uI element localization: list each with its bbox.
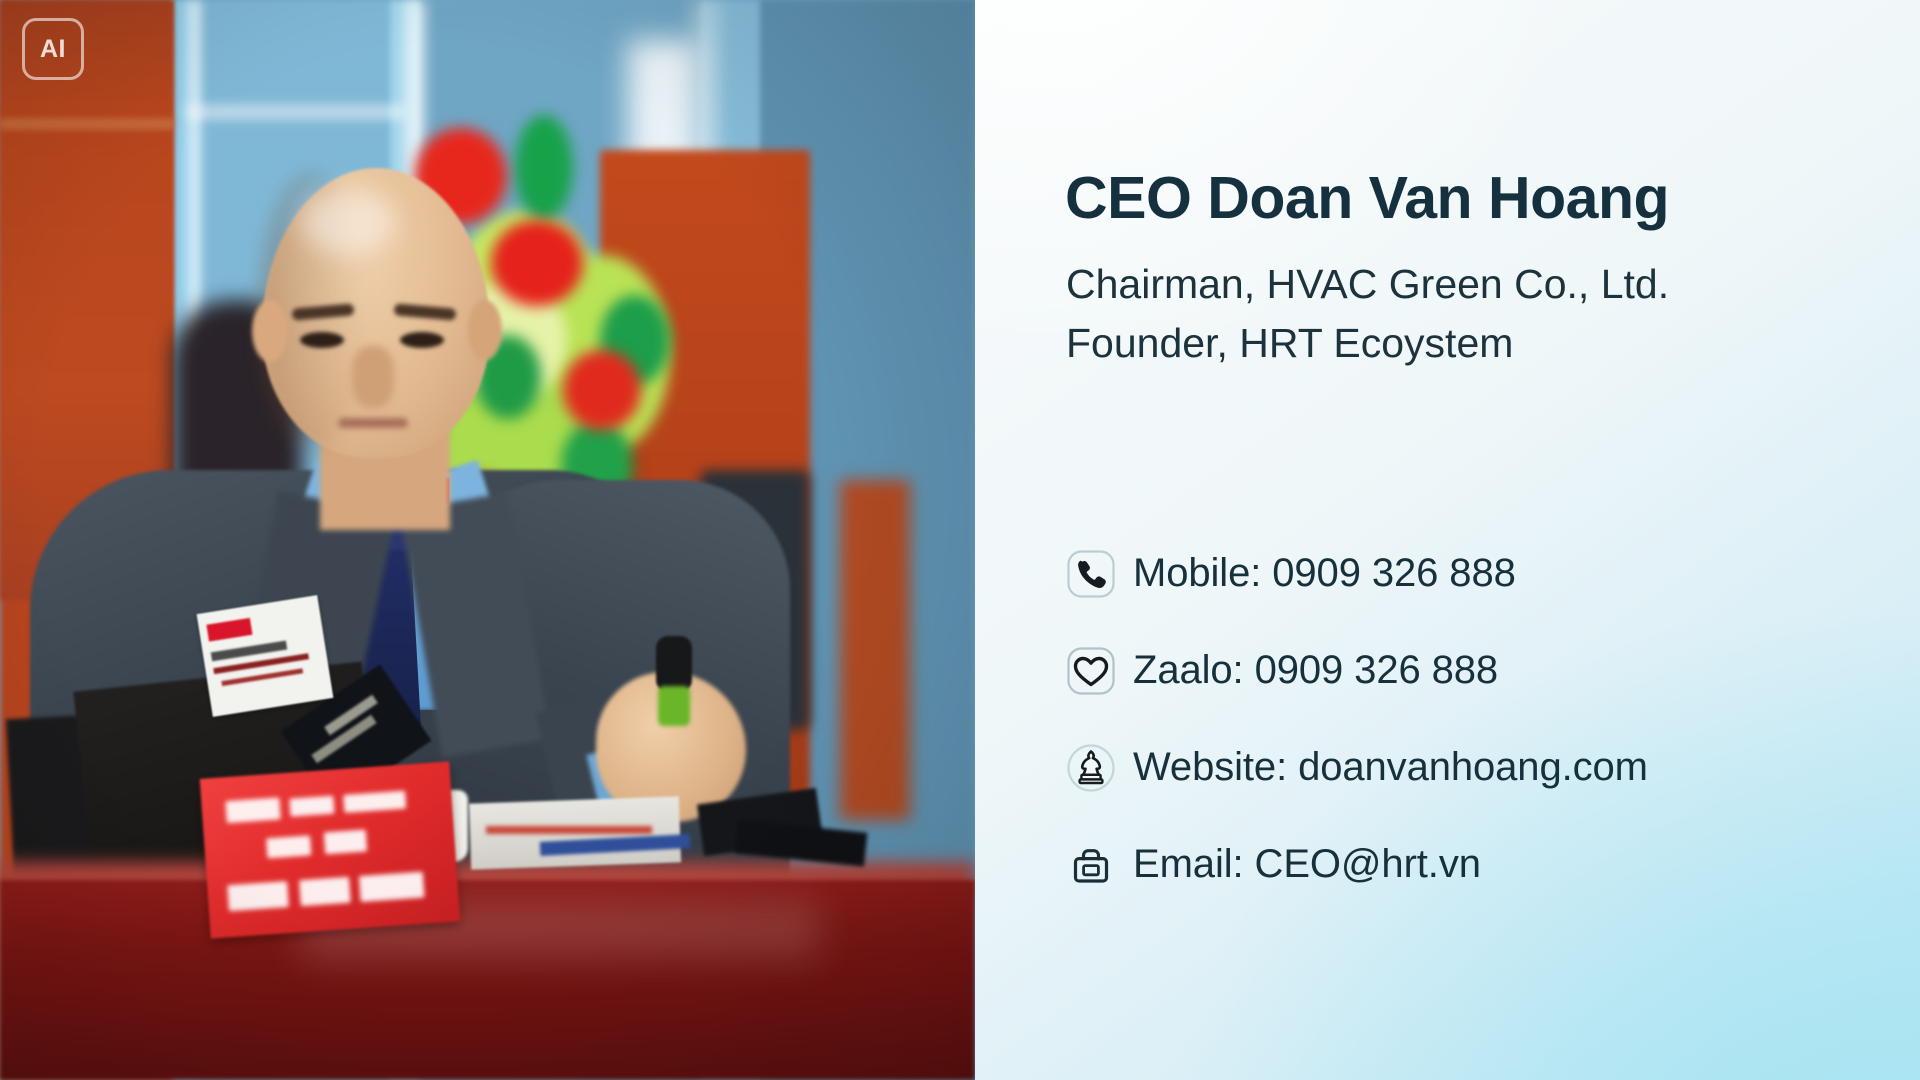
presenter-remote — [656, 636, 692, 692]
contact-row-mobile[interactable]: Mobile: 0909 326 888 — [1065, 525, 1885, 622]
contact-text-mobile: Mobile: 0909 326 888 — [1133, 551, 1516, 596]
ear-right — [468, 300, 502, 360]
bni-name-badge — [197, 595, 334, 717]
contact-row-website[interactable]: Website: doanvanhoang.com — [1065, 719, 1885, 816]
red-nameplate — [200, 761, 461, 938]
lock-icon — [1065, 839, 1117, 891]
role-block: Chairman, HVAC Green Co., Ltd. Founder, … — [1066, 255, 1669, 373]
crown-icon — [1065, 742, 1117, 794]
phone-icon — [1065, 548, 1117, 600]
contact-row-zaalo[interactable]: Zaalo: 0909 326 888 — [1065, 622, 1885, 719]
heart-icon — [1065, 645, 1117, 697]
portrait-photo: AI — [0, 0, 975, 1080]
role-line-1: Chairman, HVAC Green Co., Ltd. — [1066, 255, 1669, 314]
contact-list: Mobile: 0909 326 888 Zaalo: 0909 326 888 — [1065, 525, 1885, 913]
profile-card-canvas: AI CEO Doan Van Hoang Chairman, HVAC Gre… — [0, 0, 1920, 1080]
page-title: CEO Doan Van Hoang — [1065, 168, 1669, 229]
contact-text-email: Email: CEO@hrt.vn — [1133, 842, 1481, 887]
presenter-remote-grip — [658, 686, 690, 726]
contact-text-zaalo: Zaalo: 0909 326 888 — [1133, 648, 1498, 693]
info-panel: CEO Doan Van Hoang Chairman, HVAC Green … — [975, 0, 1920, 1080]
bni-logo — [206, 618, 252, 642]
nose — [352, 346, 394, 408]
contact-text-website: Website: doanvanhoang.com — [1133, 745, 1648, 790]
role-line-2: Founder, HRT Ecoystem — [1066, 314, 1669, 373]
contact-row-email[interactable]: Email: CEO@hrt.vn — [1065, 816, 1885, 913]
ear-left — [252, 300, 288, 362]
eye-right — [400, 332, 444, 348]
notebook-marking — [486, 826, 652, 834]
head-highlight — [300, 190, 396, 254]
ai-watermark-badge: AI — [22, 18, 84, 80]
mouth — [338, 418, 408, 428]
eye-left — [300, 332, 344, 348]
